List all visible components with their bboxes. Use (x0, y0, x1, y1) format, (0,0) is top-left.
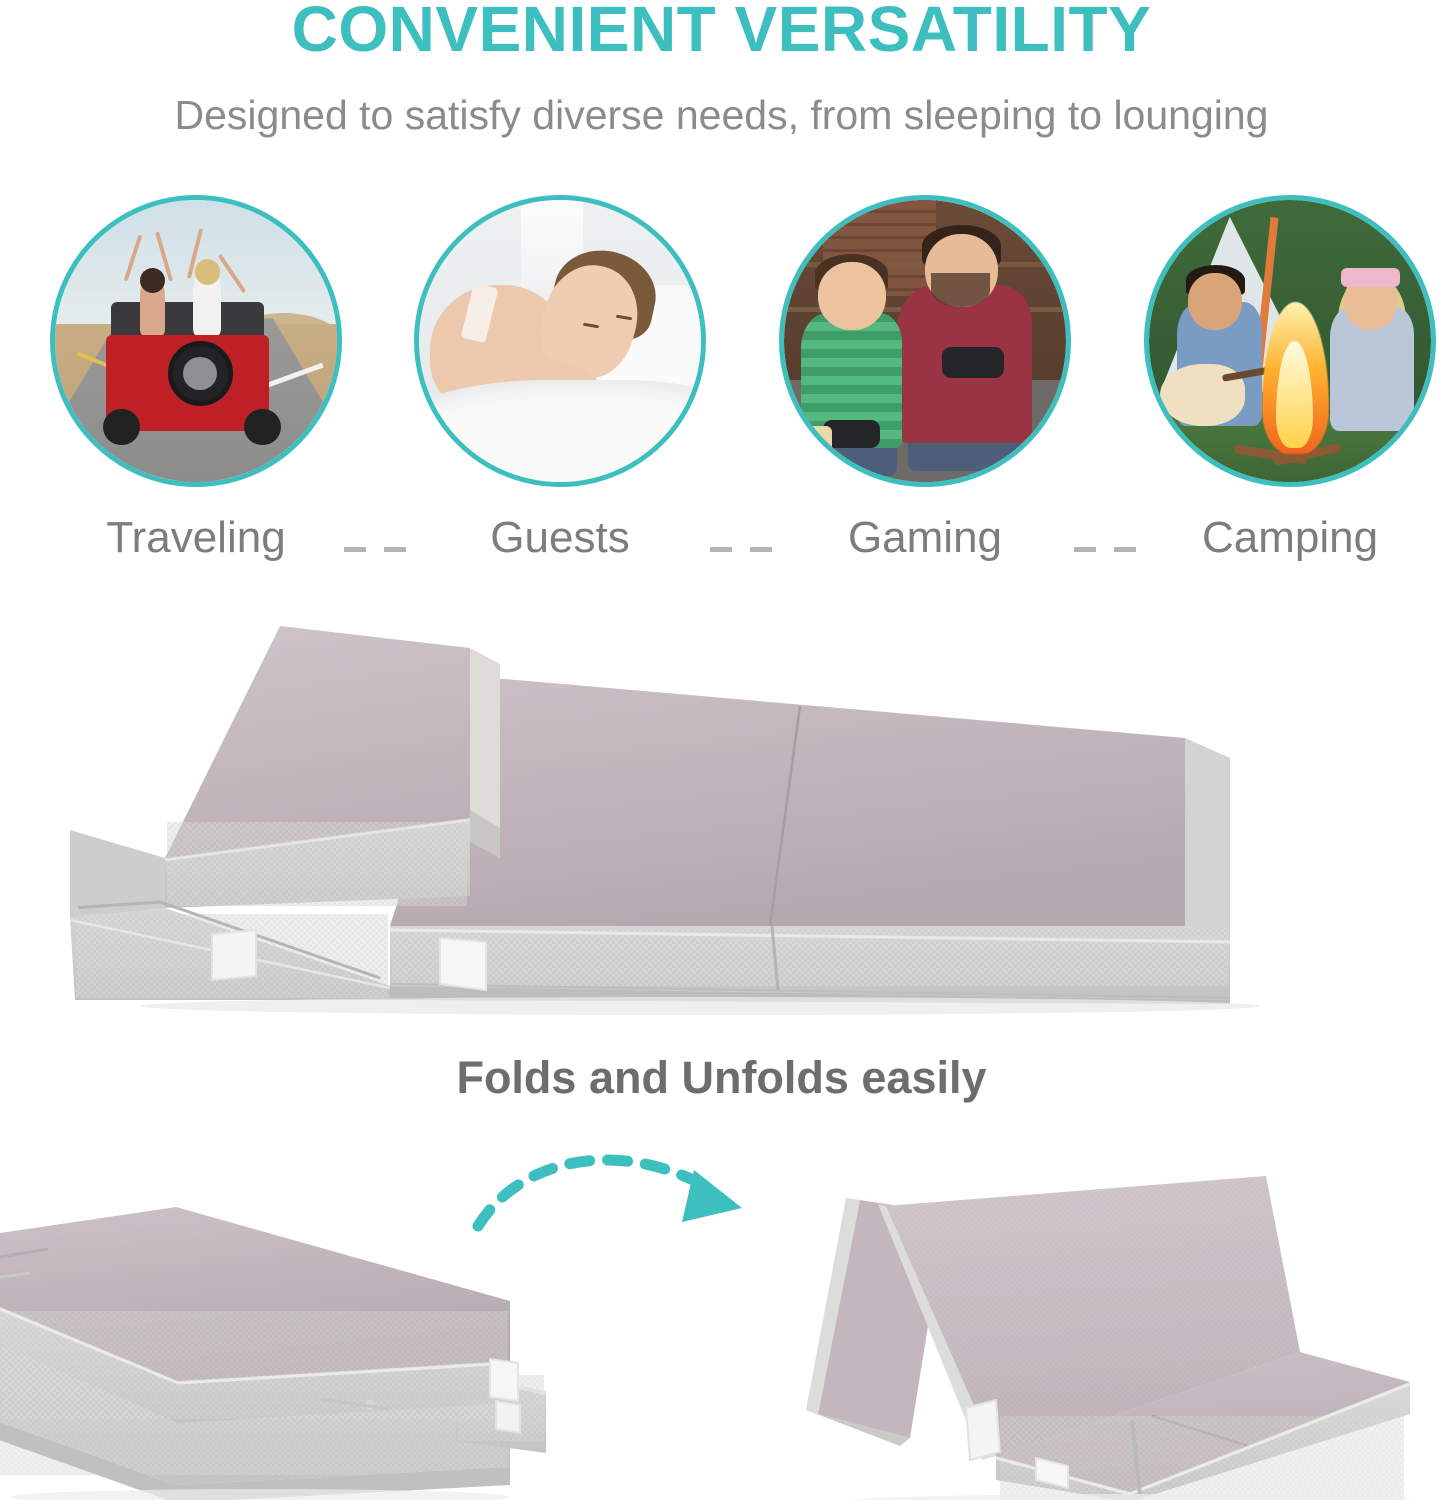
camping-photo-ring (1144, 195, 1436, 487)
sleeping-woman-photo (419, 200, 701, 482)
use-case-gaming[interactable]: Gaming (779, 195, 1071, 487)
use-case-label: Camping (1084, 513, 1443, 563)
fold-section-title: Folds and Unfolds easily (0, 1052, 1443, 1104)
fabric-tab (490, 1359, 518, 1401)
fabric-strap (966, 1400, 1000, 1460)
use-case-row: Traveling Guests (0, 195, 1443, 595)
fabric-tab-left (212, 930, 256, 980)
traveling-photo-ring (50, 195, 342, 487)
use-case-label: Gaming (719, 513, 1131, 563)
mattress-folded-stack-image (0, 1185, 550, 1500)
use-case-label: Traveling (0, 513, 402, 563)
page-headline: CONVENIENT VERSATILITY (0, 0, 1443, 66)
fabric-tab-right (440, 938, 486, 990)
page-subtitle: Designed to satisfy diverse needs, from … (0, 92, 1443, 139)
tri-fold-mattress-unfolded-svg (0, 608, 1443, 1038)
gaming-duo-photo (784, 200, 1066, 482)
use-case-traveling[interactable]: Traveling (50, 195, 342, 487)
use-case-camping[interactable]: Camping (1144, 195, 1436, 487)
guests-photo-ring (414, 195, 706, 487)
mattress-lounge-fold-image (800, 1170, 1420, 1500)
use-case-guests[interactable]: Guests (414, 195, 706, 487)
fabric-tab (496, 1401, 520, 1433)
campfire-couple-photo (1149, 200, 1431, 482)
gaming-photo-ring (779, 195, 1071, 487)
use-case-label: Guests (354, 513, 766, 563)
jeep-road-photo (55, 200, 337, 482)
hero-product-image (0, 608, 1443, 1038)
fold-examples-row (0, 1175, 1443, 1500)
